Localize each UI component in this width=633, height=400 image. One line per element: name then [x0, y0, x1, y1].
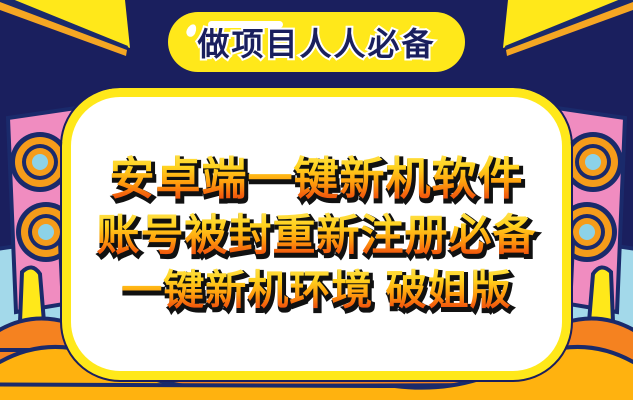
headline-line-2: 账号被封重新注册必备 账号被封重新注册必备 账号被封重新注册必备 — [97, 212, 537, 260]
speaker-cone-icon — [10, 132, 70, 192]
headline-line-3: 一键新机环境 破姐版 一键新机环境 破姐版 一键新机环境 破姐版 — [121, 268, 511, 314]
headline-line-1: 安卓端一键新机软件 安卓端一键新机软件 安卓端一键新机软件 — [109, 154, 523, 204]
speaker-cone-icon — [563, 132, 623, 192]
headline-line-2-text: 账号被封重新注册必备 — [97, 212, 537, 260]
headline-card: 安卓端一键新机软件 安卓端一键新机软件 安卓端一键新机软件 账号被封重新注册必备… — [62, 88, 571, 380]
headline-line-1-text: 安卓端一键新机软件 — [109, 153, 523, 204]
badge-highlight-icon — [208, 21, 283, 28]
headline-line-3-text: 一键新机环境 破姐版 — [121, 267, 511, 313]
top-badge: 做项目人人必备 — [168, 12, 465, 72]
poster-canvas: 安卓端一键新机软件 安卓端一键新机软件 安卓端一键新机软件 账号被封重新注册必备… — [0, 0, 633, 400]
